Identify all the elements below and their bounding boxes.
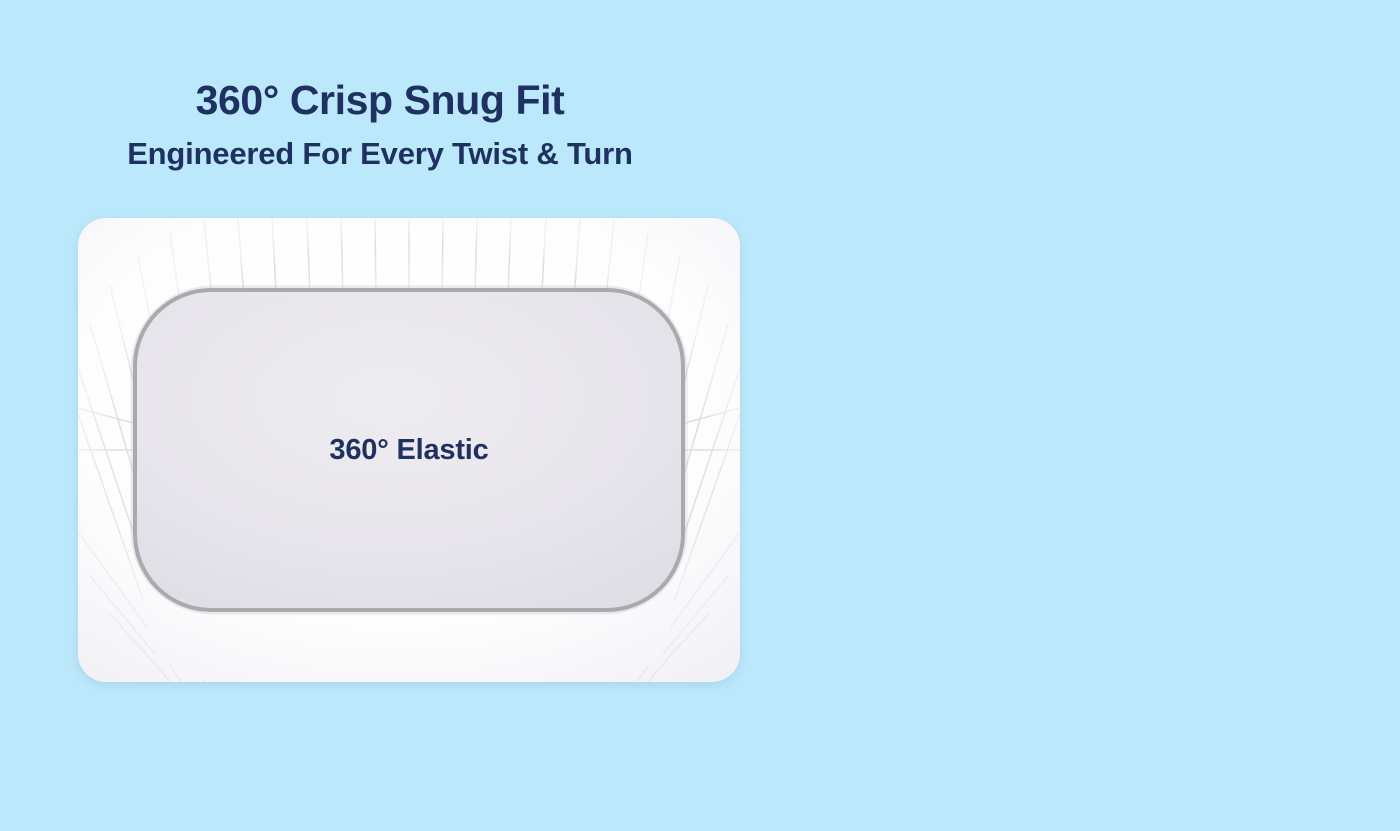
heading-block: 360° Crisp Snug Fit Engineered For Every…	[0, 78, 760, 172]
page-title: 360° Crisp Snug Fit	[0, 78, 760, 124]
fitted-sheet-illustration: 360° Elastic	[78, 218, 740, 682]
promo-banner: 360° Crisp Snug Fit Engineered For Every…	[0, 0, 1400, 831]
page-subtitle: Engineered For Every Twist & Turn	[0, 137, 760, 172]
elastic-panel	[135, 290, 683, 610]
fitted-sheet-graphic	[78, 218, 740, 682]
